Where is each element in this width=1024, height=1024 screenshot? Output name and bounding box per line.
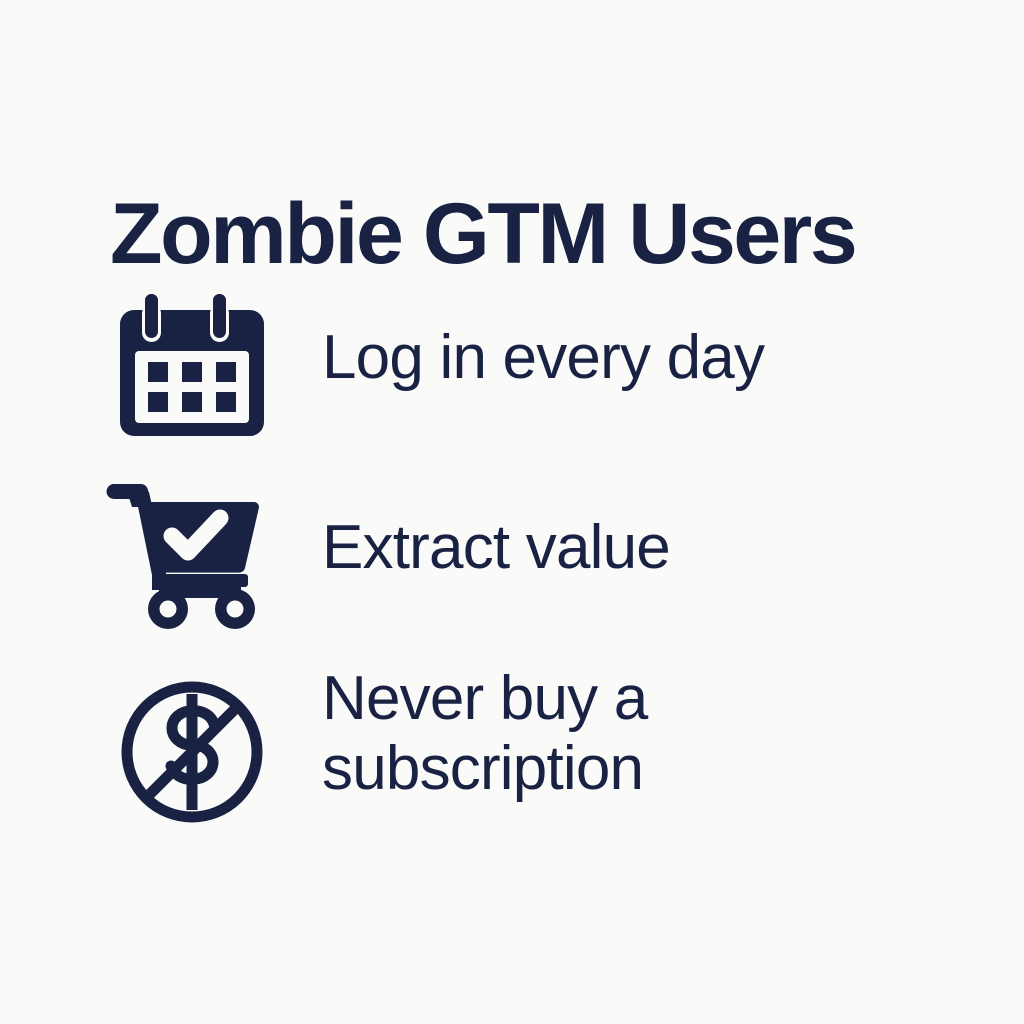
list-item-label: Extract value (272, 474, 912, 583)
list-item: Log in every day (112, 284, 952, 474)
calendar-icon (112, 288, 272, 448)
no-dollar-icon (112, 672, 272, 832)
list-item: Extract value (112, 474, 952, 664)
list-item-label: Log in every day (272, 284, 912, 393)
feature-list: Log in every day (112, 284, 952, 854)
list-item: Never buy a subscription (112, 664, 952, 854)
list-item-label: Never buy a subscription (272, 664, 692, 804)
zombie-gtm-users-card: Zombie GTM Users (0, 0, 1024, 1024)
shopping-cart-check-icon (104, 474, 264, 634)
page-title: Zombie GTM Users (110, 186, 855, 282)
